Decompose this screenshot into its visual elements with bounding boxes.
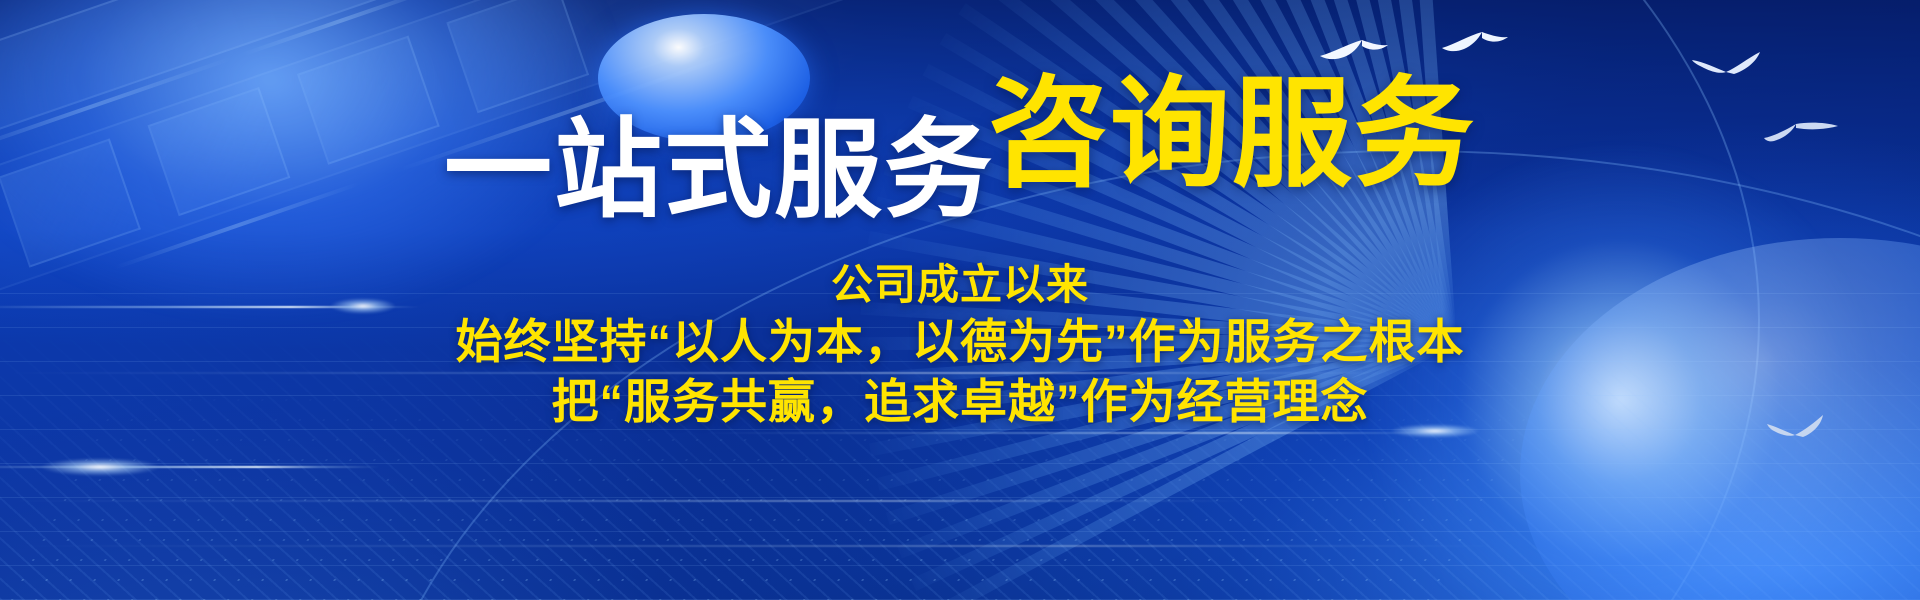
glossy-blue-orb [598,14,810,142]
light-streak [0,372,1400,374]
flying-seagull-icon [1762,112,1858,146]
light-streak [0,545,1500,547]
lens-flare [40,458,160,476]
flying-seagull-icon [1440,28,1532,60]
promo-banner: 一站式服务咨询服务 公司成立以来 始终坚持“以人为本，以德为先”作为服务之根本 … [0,0,1920,600]
flying-seagull-icon [1318,34,1414,68]
tech-grid-dots [0,350,1573,600]
lens-flare [330,298,396,314]
flying-seagull-icon [1765,412,1841,440]
lens-flare [1390,424,1480,438]
light-streak [0,500,1250,502]
light-streak [700,432,1460,434]
flying-seagull-icon [1690,46,1782,80]
